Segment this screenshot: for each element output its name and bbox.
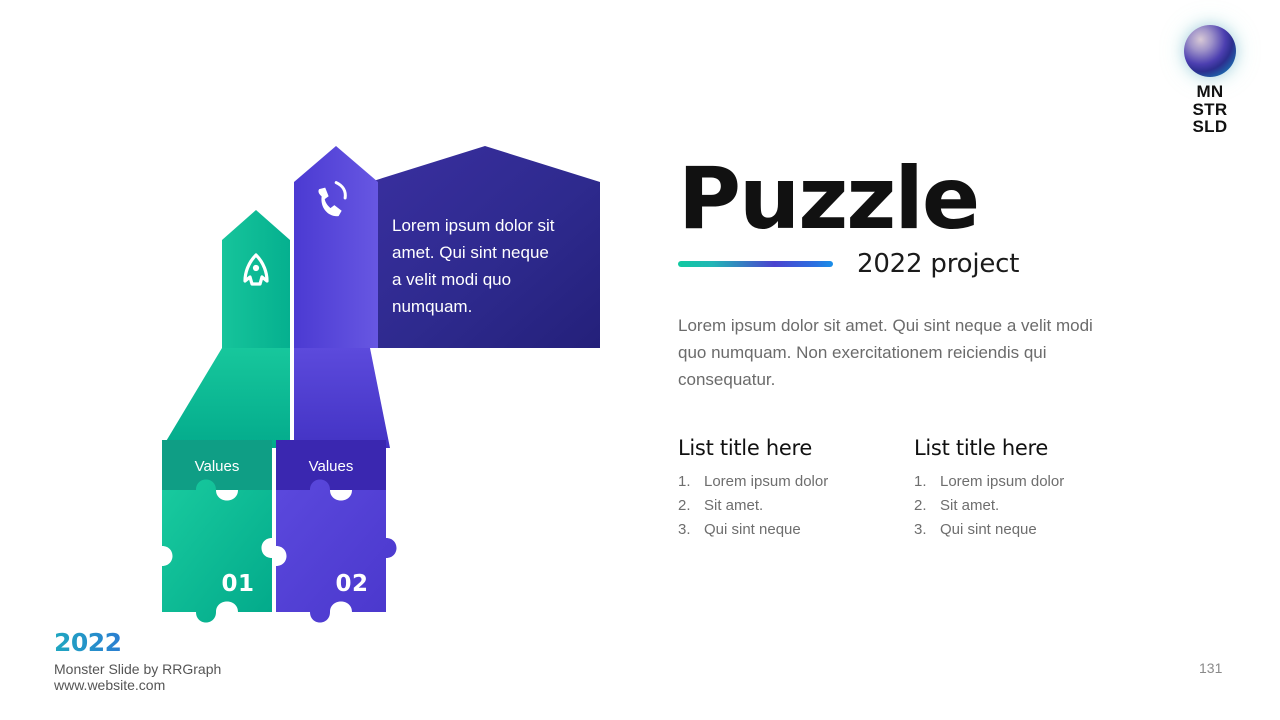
list-items-2: 1. Lorem ipsum dolor 2. Sit amet. 3. Qui… — [914, 470, 1150, 543]
footer-website: www.website.com — [54, 677, 221, 693]
list-item-number: 1. — [914, 470, 940, 494]
piece-02-tower — [294, 146, 390, 448]
list-item-number: 3. — [914, 518, 940, 542]
callout-line-3: a velit modi quo — [392, 270, 511, 289]
list-item-number: 2. — [914, 494, 940, 518]
piece-01-values-label: Values — [195, 458, 240, 475]
sphere-orb-logo-icon — [1184, 25, 1236, 77]
list-group: List title here 1. Lorem ipsum dolor 2. … — [678, 436, 1238, 543]
slide-footer: 2022 Monster Slide by RRGraph www.websit… — [54, 628, 221, 693]
list-column-2: List title here 1. Lorem ipsum dolor 2. … — [914, 436, 1150, 543]
list-item: 3. Qui sint neque — [678, 518, 914, 542]
puzzle-infographic: Values Values 01 02 Lorem ipsum dolor si… — [0, 0, 660, 720]
puzzle-piece-02[interactable]: 02 — [276, 480, 397, 623]
callout-line-4: numquam. — [392, 297, 472, 316]
page-title: Puzzle — [678, 160, 1238, 239]
footer-year: 2022 — [54, 628, 221, 657]
list-item: 3. Qui sint neque — [914, 518, 1150, 542]
piece-01-tower — [162, 210, 290, 448]
list-item: 2. Sit amet. — [914, 494, 1150, 518]
list-items-1: 1. Lorem ipsum dolor 2. Sit amet. 3. Qui… — [678, 470, 914, 543]
list-item: 2. Sit amet. — [678, 494, 914, 518]
list-item: 1. Lorem ipsum dolor — [678, 470, 914, 494]
list-item: 1. Lorem ipsum dolor — [914, 470, 1150, 494]
list-title-1: List title here — [678, 436, 914, 460]
list-item-label: Lorem ipsum dolor — [704, 470, 828, 494]
brand-logo-text: MN STR SLD — [1175, 83, 1245, 136]
brand-logo-line-1: MN — [1175, 83, 1245, 101]
brand-logo-line-3: SLD — [1175, 118, 1245, 136]
piece-01-number: 01 — [221, 571, 254, 597]
piece-02-values-band: Values — [276, 440, 386, 490]
list-item-label: Sit amet. — [704, 494, 763, 518]
subtitle-row: 2022 project — [678, 249, 1033, 279]
list-item-number: 2. — [678, 494, 704, 518]
list-item-number: 3. — [678, 518, 704, 542]
list-item-label: Lorem ipsum dolor — [940, 470, 1064, 494]
list-item-label: Qui sint neque — [704, 518, 801, 542]
footer-credit: Monster Slide by RRGraph — [54, 661, 221, 677]
accent-bar — [678, 261, 833, 267]
page-number: 131 — [1199, 660, 1222, 676]
piece-02-number: 02 — [335, 571, 368, 597]
slide-content: Puzzle 2022 project Lorem ipsum dolor si… — [678, 160, 1238, 543]
piece-02-values-label: Values — [309, 458, 354, 475]
body-paragraph: Lorem ipsum dolor sit amet. Qui sint neq… — [678, 313, 1118, 394]
list-title-2: List title here — [914, 436, 1150, 460]
callout-line-2: amet. Qui sint neque — [392, 243, 549, 262]
list-column-1: List title here 1. Lorem ipsum dolor 2. … — [678, 436, 914, 543]
piece-01-values-band: Values — [162, 440, 272, 490]
page-subtitle: 2022 project — [857, 249, 1019, 279]
callout-line-1: Lorem ipsum dolor sit — [392, 216, 555, 235]
puzzle-piece-01[interactable]: 01 — [162, 480, 272, 623]
brand-logo-line-2: STR — [1175, 101, 1245, 119]
brand-logo: MN STR SLD — [1175, 25, 1245, 136]
list-item-label: Qui sint neque — [940, 518, 1037, 542]
list-item-number: 1. — [678, 470, 704, 494]
list-item-label: Sit amet. — [940, 494, 999, 518]
